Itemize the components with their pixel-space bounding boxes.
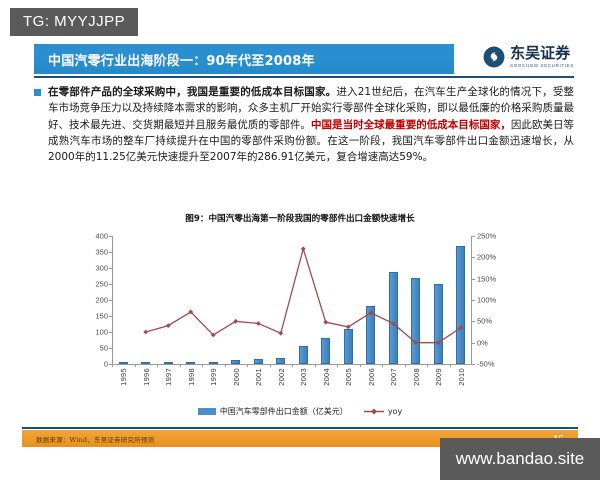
body-content: 在零部件产品的全球采购中，我国是重要的低成本目标国家。进入21世纪后，在汽车生产… xyxy=(34,84,574,165)
x-axis-tick-label: 2006 xyxy=(367,368,376,386)
x-axis-tick-mark xyxy=(427,364,428,367)
slide-canvas: 中国汽零行业出海阶段一：90年代至2008年 东吴证券 SOOCHOW SECU… xyxy=(22,40,578,448)
header-title-bar: 中国汽零行业出海阶段一：90年代至2008年 xyxy=(34,44,454,74)
x-axis-tick-label: 2005 xyxy=(344,368,353,386)
y-axis-right-tick-label: 200% xyxy=(477,253,496,262)
y-axis-right-tick-mark xyxy=(472,257,475,258)
x-axis-tick-mark xyxy=(202,364,203,367)
chart-plot-area: 400350300250200150100500250%200%150%100%… xyxy=(112,236,472,364)
footer-source-note: 数据来源：Wind，东吴证券研究所预测 xyxy=(22,434,154,444)
legend-item-line: yoy xyxy=(364,407,402,416)
y-axis-left-tick-label: 0 xyxy=(104,360,108,369)
x-axis-tick-label: 1999 xyxy=(209,368,218,386)
bullet-paragraph: 在零部件产品的全球采购中，我国是重要的低成本目标国家。进入21世纪后，在汽车生产… xyxy=(34,84,574,165)
legend-line-swatch-icon xyxy=(364,407,384,416)
legend-label-line: yoy xyxy=(388,407,402,416)
x-axis-tick-mark xyxy=(247,364,248,367)
y-axis-right-tick-mark xyxy=(472,364,475,365)
y-axis-left-tick-label: 300 xyxy=(95,264,108,273)
y-axis-right-tick-mark xyxy=(472,236,475,237)
y-axis-left-tick-label: 50 xyxy=(100,344,108,353)
x-axis-tick-label: 1996 xyxy=(142,368,151,386)
x-axis-tick-mark xyxy=(292,364,293,367)
header-divider xyxy=(34,76,574,78)
bullet-square-icon xyxy=(34,89,41,96)
slide-header: 中国汽零行业出海阶段一：90年代至2008年 东吴证券 SOOCHOW SECU… xyxy=(22,40,578,76)
x-axis-tick-mark xyxy=(315,364,316,367)
footer-divider xyxy=(22,427,578,429)
tg-overlay-tag: TG: MYYJJPP xyxy=(10,8,138,36)
legend-item-bars: 中国汽车零部件出口金额（亿美元） xyxy=(198,406,348,417)
y-axis-left-tick-label: 350 xyxy=(95,248,108,257)
x-axis-tick-mark xyxy=(405,364,406,367)
x-axis-tick-mark xyxy=(112,364,113,367)
y-axis-right-tick-label: 150% xyxy=(477,274,496,283)
x-axis-tick-mark xyxy=(337,364,338,367)
y-axis-right-tick-mark xyxy=(472,300,475,301)
x-axis-tick-label: 1995 xyxy=(119,368,128,386)
legend-bar-swatch-icon xyxy=(198,408,216,415)
x-axis-tick-mark xyxy=(180,364,181,367)
company-logo: 东吴证券 SOOCHOW SECURITIES xyxy=(483,46,574,68)
y-axis-right-tick-label: 100% xyxy=(477,296,496,305)
x-axis-tick-label: 2008 xyxy=(412,368,421,386)
x-axis-tick-label: 2000 xyxy=(232,368,241,386)
legend-label-bars: 中国汽车零部件出口金额（亿美元） xyxy=(220,406,348,417)
y-axis-right-tick-label: 50% xyxy=(477,317,492,326)
chart-legend: 中国汽车零部件出口金额（亿美元） yoy xyxy=(74,406,526,417)
logo-text-block: 东吴证券 SOOCHOW SECURITIES xyxy=(510,46,574,68)
x-axis-tick-label: 2002 xyxy=(277,368,286,386)
y-axis-left-tick-label: 400 xyxy=(95,232,108,241)
x-axis-tick-label: 2009 xyxy=(434,368,443,386)
x-axis-tick-label: 2001 xyxy=(254,368,263,386)
chart-title: 图9：中国汽零出海第一阶段我国的零部件出口金额快速增长 xyxy=(22,212,578,224)
y-axis-right-tick-label: -50% xyxy=(477,360,495,369)
y-axis-left-tick-label: 200 xyxy=(95,296,108,305)
x-axis-tick-mark xyxy=(450,364,451,367)
x-axis-tick-mark xyxy=(382,364,383,367)
x-axis-tick-label: 2004 xyxy=(322,368,331,386)
paragraph-highlight: 中国是当时全球最重要的低成本目标国家， xyxy=(311,119,511,131)
logo-name-cn: 东吴证券 xyxy=(510,46,574,62)
soochow-swirl-icon xyxy=(483,46,505,68)
x-axis-tick-label: 1997 xyxy=(164,368,173,386)
x-axis-tick-mark xyxy=(225,364,226,367)
x-axis-tick-mark xyxy=(360,364,361,367)
y-axis-left-tick-label: 250 xyxy=(95,280,108,289)
x-axis-tick-mark xyxy=(157,364,158,367)
x-axis-tick-mark xyxy=(135,364,136,367)
y-axis-left-tick-label: 100 xyxy=(95,328,108,337)
x-axis-tick-label: 2010 xyxy=(457,368,466,386)
chart-figure: 400350300250200150100500250%200%150%100%… xyxy=(74,228,526,424)
y-axis-right-tick-mark xyxy=(472,279,475,280)
y-axis-right-tick-label: 250% xyxy=(477,232,496,241)
paragraph-lead: 在零部件产品的全球采购中，我国是重要的低成本目标国家。 xyxy=(48,86,336,98)
x-axis-tick-label: 2003 xyxy=(299,368,308,386)
y-axis-right-tick-mark xyxy=(472,321,475,322)
logo-name-en: SOOCHOW SECURITIES xyxy=(510,63,574,68)
paragraph-text: 在零部件产品的全球采购中，我国是重要的低成本目标国家。进入21世纪后，在汽车生产… xyxy=(48,84,574,165)
y-axis-right-tick-label: 0% xyxy=(477,338,488,347)
chart-line-series xyxy=(112,236,472,364)
y-axis-right-tick-mark xyxy=(472,343,475,344)
site-watermark: www.bandao.site xyxy=(440,438,600,480)
x-axis-tick-mark xyxy=(270,364,271,367)
page-title: 中国汽零行业出海阶段一：90年代至2008年 xyxy=(34,50,315,69)
x-axis-tick-label: 2007 xyxy=(389,368,398,386)
y-axis-left-tick-label: 150 xyxy=(95,312,108,321)
x-axis-tick-label: 1998 xyxy=(187,368,196,386)
